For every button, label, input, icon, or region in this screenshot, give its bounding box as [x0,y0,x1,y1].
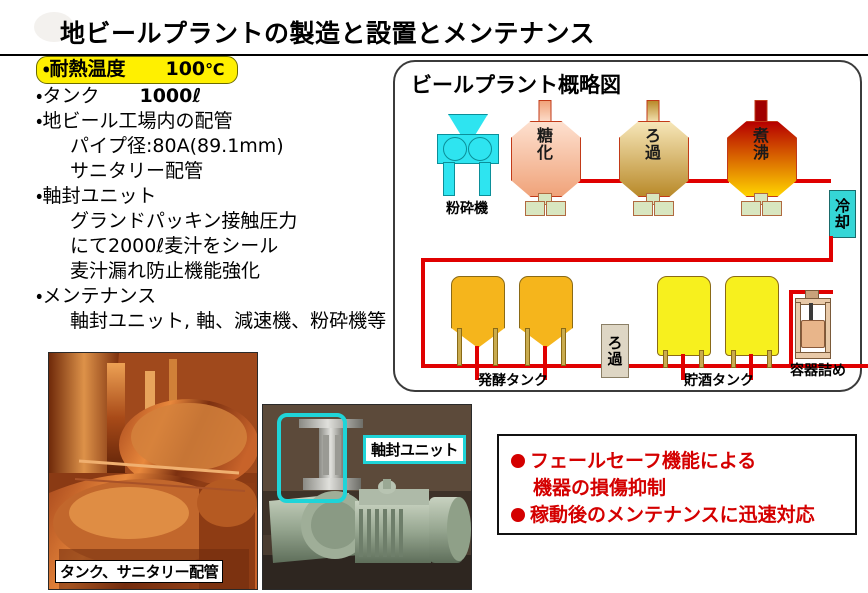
tank-fermentation-1-leg-left [457,328,462,366]
spec-label: サニタリー配管 [70,160,203,182]
spec-line: 軸封ユニット, 軸、減速機、粉砕機等 [36,309,386,334]
heat-resistance-badge: ・耐熱温度100℃ [36,56,238,84]
tank-storage-2-body [725,276,779,356]
filler-unit: 容器詰め [791,290,845,370]
mill-hopper-icon [448,114,488,135]
filler-caption: 容器詰め [777,360,859,380]
heat-label: 耐熱温度 [49,58,125,80]
spec-label: メンテナンス [42,285,156,307]
vessel-mash-valve-icon [525,201,565,214]
spec-line: 麦汁漏れ防止機能強化 [36,259,386,284]
diagram-panel: ビールプラント概略図 粉砕機 糖化 ろ過 煮沸 冷却 [393,60,862,392]
pipe-mash-to-lauter [578,179,622,183]
mill-roller-right-icon [468,137,492,161]
page-title: 地ビールプラントの製造と設置とメンテナンス [60,14,595,50]
vessel-lauter-label: ろ過 [619,127,687,161]
filter-box: ろ過 [601,324,629,378]
tank-fermentation-2 [519,276,571,366]
tank-photo-image [49,353,257,589]
filler-nozzle-icon [809,303,813,321]
tank-photo: タンク、サニタリー配管 [48,352,258,590]
spec-label: グランドパッキン接触圧力 [70,210,297,232]
mill-roller-left-icon [443,137,467,161]
heat-value: 100 [165,58,205,80]
callout-line: 機器の損傷抑制 [533,473,666,500]
callout-text: フェールセーフ機能による [530,450,756,472]
spec-line: パイプ径:80A(89.1mm) [36,134,386,159]
pipe-top-return [421,258,833,262]
callout-text: 稼動後のメンテナンスに迅速対応 [530,504,815,526]
spec-heat-row: ・耐熱温度100℃ [36,56,386,84]
callout-box: フェールセーフ機能による機器の損傷抑制稼動後のメンテナンスに迅速対応 [497,434,857,535]
vessel-lauter: ろ過 [619,100,687,215]
vessel-lauter-valve-icon [633,201,673,214]
mill-leg-right-icon [479,162,491,196]
tank-storage-1 [657,276,709,366]
tank-storage-1-leg-left [663,350,668,368]
mill-caption: 粉砕機 [427,198,507,218]
vessel-boil-label: 煮沸 [727,127,795,161]
tank-storage-2-leg-left [731,350,736,368]
tank-fermentation-1 [451,276,503,366]
pipe-left-down [421,258,425,368]
spec-line: ・軸封ユニット [36,184,386,209]
spec-label: 軸封ユニット, 軸、減速機、粉砕機等 [70,310,386,332]
mill-unit: 粉砕機 [431,114,503,198]
heat-unit: ℃ [205,60,224,79]
filler-frame-right-icon [825,302,831,356]
diagram-title: ビールプラント概略図 [411,69,621,99]
title-bar: 地ビールプラントの製造と設置とメンテナンス [0,6,868,50]
filler-base-icon [795,352,831,359]
vessel-boil-neck [755,100,768,123]
callout-bullet-icon [511,508,525,522]
callout-line: フェールセーフ機能による [511,446,756,473]
callout-bullet-icon [511,454,525,468]
filler-container-icon [801,320,825,348]
callout-text: 機器の損傷抑制 [533,477,666,499]
spec-label: タンク [42,85,99,107]
fermentation-caption: 発酵タンク [443,370,583,390]
tank-storage-1-leg-right [699,350,704,368]
seal-unit-tag: 軸封ユニット [363,435,466,464]
tank-storage-2-leg-right [767,350,772,368]
seal-photo: 軸封ユニット [262,404,472,590]
spec-label: 地ビール工場内の配管 [42,110,232,132]
storage-caption: 貯酒タンク [649,370,789,390]
tank-fermentation-1-leg-right [493,328,498,366]
spec-line: にて2000ℓ麦汁をシール [36,234,386,259]
vessel-mash-label: 糖化 [511,127,579,161]
spec-label: 麦汁漏れ防止機能強化 [70,260,260,282]
tank-photo-caption: タンク、サニタリー配管 [55,560,223,583]
spec-label: パイプ径:80A(89.1mm) [70,135,284,157]
vessel-boil-valve-icon [741,201,781,214]
callout-line: 稼動後のメンテナンスに迅速対応 [511,500,815,527]
spec-line: ・タンク1000ℓ [36,84,386,109]
mill-leg-left-icon [443,162,455,196]
spec-line: サニタリー配管 [36,159,386,184]
tank-fermentation-2-leg-left [525,328,530,366]
spec-label: にて2000ℓ麦汁をシール [70,235,278,257]
cooler-box: 冷却 [829,190,856,238]
spec-value: 1000ℓ [139,85,201,107]
spec-label: 軸封ユニット [42,185,156,207]
tank-fermentation-2-leg-right [561,328,566,366]
vessel-mash: 糖化 [511,100,579,215]
seal-highlight-ring [277,413,347,503]
tank-storage-1-body [657,276,711,356]
pipe-boil-to-cooler [793,179,831,183]
vessel-lauter-neck [647,100,660,123]
spec-list: ・耐熱温度100℃ ・タンク1000ℓ・地ビール工場内の配管パイプ径:80A(8… [36,56,386,334]
spec-line: ・地ビール工場内の配管 [36,109,386,134]
vessel-mash-neck [539,100,552,123]
spec-line: グランドパッキン接触圧力 [36,209,386,234]
vessel-boil: 煮沸 [727,100,795,215]
tank-storage-2 [725,276,777,366]
spec-lines: ・タンク1000ℓ・地ビール工場内の配管パイプ径:80A(89.1mm)サニタリ… [36,84,386,334]
spec-line: ・メンテナンス [36,284,386,309]
pipe-lauter-to-boil [685,179,729,183]
